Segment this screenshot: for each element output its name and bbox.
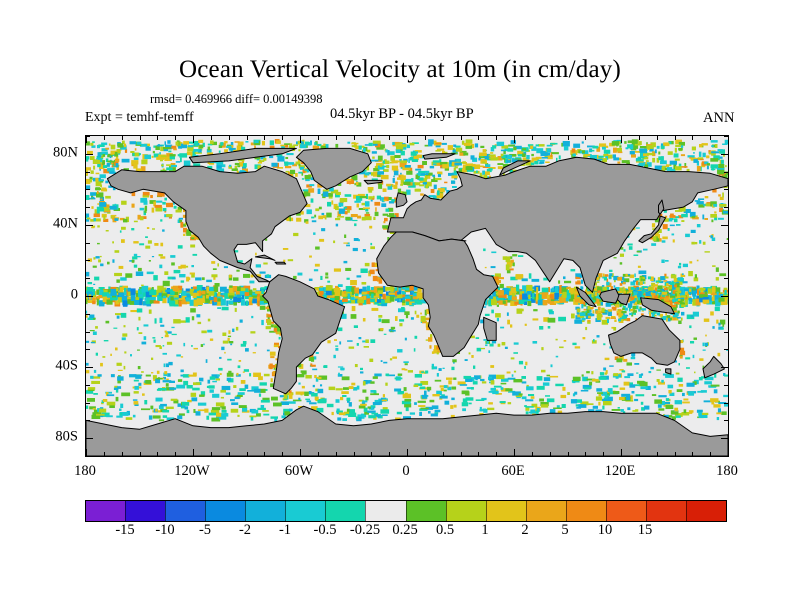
anomaly-patch <box>237 415 239 417</box>
anomaly-patch <box>96 173 100 175</box>
axis-tick <box>229 452 230 456</box>
anomaly-patch <box>215 283 220 287</box>
anomaly-patch <box>432 366 434 369</box>
anomaly-patch <box>421 371 424 373</box>
figure-canvas: Ocean Vertical Velocity at 10m (in cm/da… <box>0 0 800 600</box>
anomaly-patch <box>91 170 94 174</box>
anomaly-patch <box>608 388 613 392</box>
anomaly-patch <box>402 300 405 303</box>
anomaly-patch <box>543 300 548 305</box>
anomaly-patch <box>630 144 634 149</box>
axis-tick <box>122 452 123 456</box>
anomaly-patch <box>306 221 309 224</box>
anomaly-patch <box>222 307 229 311</box>
axis-tick <box>724 260 728 261</box>
anomaly-patch <box>349 347 355 349</box>
anomaly-patch <box>464 143 471 146</box>
anomaly-patch <box>345 211 348 214</box>
anomaly-patch <box>104 340 109 341</box>
anomaly-patch <box>370 339 375 343</box>
anomaly-patch <box>306 179 310 181</box>
anomaly-patch <box>654 295 658 298</box>
anomaly-patch <box>257 301 259 307</box>
anomaly-patch <box>519 393 523 395</box>
anomaly-patch <box>591 314 595 316</box>
anomaly-patch <box>412 159 418 162</box>
axis-tick <box>603 136 604 140</box>
anomaly-patch <box>162 298 166 303</box>
anomaly-patch <box>107 394 114 396</box>
anomaly-patch <box>313 385 315 387</box>
anomaly-patch <box>411 178 413 182</box>
anomaly-patch <box>94 214 100 218</box>
anomaly-patch <box>467 166 472 169</box>
anomaly-patch <box>141 371 144 373</box>
anomaly-patch <box>111 145 116 150</box>
anomaly-patch <box>140 208 144 211</box>
anomaly-patch <box>620 288 623 292</box>
anomaly-patch <box>336 388 343 390</box>
anomaly-patch <box>110 354 112 356</box>
anomaly-patch <box>122 159 130 163</box>
anomaly-patch <box>245 141 248 143</box>
anomaly-patch <box>193 373 197 377</box>
anomaly-patch <box>617 311 621 313</box>
anomaly-patch <box>103 215 105 220</box>
anomaly-patch <box>384 200 387 202</box>
anomaly-patch <box>651 243 656 246</box>
anomaly-patch <box>725 174 727 178</box>
anomaly-patch <box>327 340 330 343</box>
anomaly-patch <box>383 221 385 223</box>
anomaly-patch <box>356 182 359 185</box>
anomaly-patch <box>680 340 683 343</box>
anomaly-patch <box>145 236 148 238</box>
anomaly-patch <box>705 291 707 294</box>
anomaly-patch <box>617 152 622 154</box>
anomaly-patch <box>382 319 390 323</box>
anomaly-patch <box>116 397 119 401</box>
anomaly-patch <box>340 368 344 371</box>
axis-tick <box>585 136 586 140</box>
anomaly-patch <box>370 243 372 245</box>
anomaly-patch <box>129 374 136 377</box>
anomaly-patch <box>415 336 418 339</box>
anomaly-patch <box>414 402 417 405</box>
anomaly-patch <box>536 287 538 293</box>
anomaly-patch <box>392 357 397 359</box>
anomaly-patch <box>195 277 202 280</box>
anomaly-patch <box>712 265 716 267</box>
anomaly-patch <box>524 366 526 369</box>
anomaly-patch <box>710 398 718 402</box>
anomaly-patch <box>673 290 675 293</box>
colorbar-tick-label: 2 <box>521 522 528 539</box>
anomaly-patch <box>563 276 566 279</box>
axis-tick <box>425 452 426 456</box>
anomaly-patch <box>697 410 703 413</box>
anomaly-patch <box>125 273 132 278</box>
anomaly-patch <box>345 268 351 271</box>
anomaly-patch <box>428 142 432 146</box>
anomaly-patch <box>541 347 543 350</box>
anomaly-patch <box>400 184 403 186</box>
anomaly-patch <box>506 264 510 270</box>
anomaly-patch <box>648 276 651 279</box>
anomaly-patch <box>255 253 257 256</box>
anomaly-patch <box>451 367 454 370</box>
anomaly-patch <box>359 405 366 408</box>
anomaly-patch <box>243 163 247 167</box>
anomaly-patch <box>88 387 95 390</box>
anomaly-patch <box>99 409 106 413</box>
anomaly-patch <box>371 413 378 415</box>
anomaly-patch <box>606 282 609 286</box>
anomaly-patch <box>174 298 179 300</box>
anomaly-patch <box>723 211 728 214</box>
anomaly-patch <box>622 370 625 372</box>
anomaly-patch <box>128 288 131 292</box>
anomaly-patch <box>139 332 143 334</box>
axis-tick <box>86 403 90 404</box>
anomaly-patch <box>636 287 639 290</box>
anomaly-patch <box>692 216 695 218</box>
axis-tick <box>461 452 462 456</box>
anomaly-patch <box>668 228 670 231</box>
axis-tick <box>710 452 711 456</box>
anomaly-patch <box>685 357 690 359</box>
anomaly-patch <box>145 246 150 249</box>
anomaly-patch <box>239 405 247 408</box>
anomaly-patch <box>721 160 724 164</box>
anomaly-patch <box>144 336 147 340</box>
axis-tick <box>140 452 141 456</box>
anomaly-patch <box>392 142 395 145</box>
anomaly-patch <box>360 371 363 373</box>
anomaly-patch <box>209 291 215 296</box>
anomaly-patch <box>137 327 139 330</box>
anomaly-patch <box>371 406 373 410</box>
anomaly-patch <box>143 192 150 196</box>
anomaly-patch <box>352 145 357 147</box>
anomaly-patch <box>434 185 437 190</box>
anomaly-patch <box>276 140 281 144</box>
anomaly-patch <box>452 186 457 188</box>
anomaly-patch <box>674 302 679 304</box>
anomaly-patch <box>88 282 93 284</box>
anomaly-patch <box>505 388 512 391</box>
anomaly-patch <box>270 356 274 358</box>
anomaly-patch <box>367 411 375 413</box>
axis-tick <box>371 136 372 140</box>
anomaly-patch <box>94 370 96 373</box>
anomaly-patch <box>320 384 322 386</box>
anomaly-patch <box>267 320 271 326</box>
anomaly-patch <box>103 399 108 402</box>
anomaly-patch <box>163 415 167 418</box>
anomaly-patch <box>95 326 98 329</box>
world-map-heatmap <box>86 136 728 456</box>
anomaly-patch <box>658 408 664 410</box>
anomaly-patch <box>675 293 677 296</box>
anomaly-patch <box>267 350 270 352</box>
anomaly-patch <box>279 337 281 340</box>
anomaly-patch <box>141 408 150 410</box>
colorbar-tick-label: -5 <box>199 522 211 539</box>
anomaly-patch <box>311 393 318 397</box>
anomaly-patch <box>131 289 136 296</box>
anomaly-patch <box>187 410 190 413</box>
anomaly-patch <box>134 380 139 382</box>
anomaly-patch <box>628 140 634 143</box>
anomaly-patch <box>448 145 453 150</box>
anomaly-patch <box>383 394 385 397</box>
anomaly-patch <box>522 148 526 150</box>
anomaly-patch <box>357 386 360 390</box>
anomaly-patch <box>598 297 600 299</box>
anomaly-patch <box>309 184 314 186</box>
anomaly-patch <box>392 166 398 171</box>
anomaly-patch <box>298 149 300 151</box>
x-axis-label: 120W <box>174 463 209 480</box>
anomaly-patch <box>281 401 289 405</box>
anomaly-patch <box>385 149 387 152</box>
anomaly-patch <box>336 192 341 195</box>
anomaly-patch <box>193 409 195 413</box>
anomaly-patch <box>707 163 710 166</box>
anomaly-patch <box>138 366 141 369</box>
anomaly-patch <box>134 265 137 268</box>
anomaly-patch <box>487 408 494 410</box>
anomaly-patch <box>317 144 321 146</box>
anomaly-patch <box>636 373 638 374</box>
statistics-annotation: rmsd= 0.469966 diff= 0.00149398 <box>150 92 323 107</box>
anomaly-patch <box>331 200 333 204</box>
anomaly-patch <box>107 402 116 406</box>
anomaly-patch <box>390 156 395 161</box>
anomaly-patch <box>139 243 144 245</box>
anomaly-patch <box>715 307 720 311</box>
anomaly-patch <box>592 146 598 149</box>
anomaly-patch <box>100 174 106 178</box>
anomaly-patch <box>130 141 137 144</box>
anomaly-patch <box>274 343 279 345</box>
anomaly-patch <box>322 213 325 215</box>
anomaly-patch <box>186 266 188 268</box>
anomaly-patch <box>100 264 103 267</box>
anomaly-patch <box>488 350 490 353</box>
anomaly-patch <box>693 312 699 317</box>
anomaly-patch <box>693 355 695 358</box>
anomaly-patch <box>711 140 718 143</box>
anomaly-patch <box>367 286 370 291</box>
anomaly-patch <box>725 165 727 167</box>
anomaly-patch <box>490 365 494 368</box>
anomaly-patch <box>636 394 645 396</box>
anomaly-patch <box>397 349 402 352</box>
anomaly-patch <box>368 415 376 418</box>
anomaly-patch <box>692 299 696 306</box>
anomaly-patch <box>539 399 544 402</box>
anomaly-patch <box>107 161 114 163</box>
anomaly-patch <box>587 309 590 313</box>
anomaly-patch <box>708 288 712 293</box>
axis-tick <box>550 136 551 140</box>
anomaly-patch <box>666 398 669 401</box>
x-axis-label: 60E <box>501 463 524 480</box>
anomaly-patch <box>117 316 120 319</box>
anomaly-patch <box>596 396 602 400</box>
anomaly-patch <box>454 163 462 166</box>
anomaly-patch <box>417 288 421 292</box>
anomaly-patch <box>236 327 238 331</box>
anomaly-patch <box>180 158 182 163</box>
anomaly-patch <box>334 339 337 341</box>
anomaly-patch <box>531 154 534 156</box>
anomaly-patch <box>705 335 707 337</box>
anomaly-patch <box>116 163 119 167</box>
anomaly-patch <box>411 152 417 156</box>
colorbar-tick-label: 1 <box>481 522 488 539</box>
anomaly-patch <box>598 310 601 313</box>
anomaly-patch <box>378 184 382 189</box>
anomaly-patch <box>191 265 194 267</box>
anomaly-patch <box>676 415 681 418</box>
anomaly-patch <box>100 199 102 201</box>
anomaly-patch <box>136 272 143 277</box>
anomaly-patch <box>224 266 228 268</box>
anomaly-patch <box>298 398 300 400</box>
anomaly-patch <box>583 337 586 339</box>
anomaly-patch <box>181 280 185 282</box>
axis-tick <box>443 136 444 140</box>
anomaly-patch <box>339 412 346 415</box>
axis-tick <box>532 452 533 456</box>
anomaly-patch <box>170 154 176 156</box>
anomaly-patch <box>705 196 709 198</box>
anomaly-patch <box>336 224 338 227</box>
anomaly-patch <box>714 389 718 393</box>
anomaly-patch <box>681 295 686 297</box>
anomaly-patch <box>188 145 194 147</box>
anomaly-patch <box>120 277 127 280</box>
anomaly-patch <box>488 168 492 170</box>
anomaly-patch <box>93 393 98 395</box>
anomaly-patch <box>587 306 590 310</box>
anomaly-patch <box>134 301 140 305</box>
anomaly-patch <box>195 300 199 303</box>
anomaly-patch <box>704 218 708 220</box>
anomaly-patch <box>171 262 175 265</box>
anomaly-patch <box>575 281 580 284</box>
anomaly-patch <box>488 402 493 404</box>
anomaly-patch <box>386 165 389 168</box>
axis-tick <box>724 385 728 386</box>
anomaly-patch <box>643 279 646 281</box>
anomaly-patch <box>698 412 702 416</box>
anomaly-patch <box>116 288 119 291</box>
anomaly-patch <box>681 145 683 148</box>
anomaly-patch <box>444 385 448 388</box>
anomaly-patch <box>229 165 231 167</box>
anomaly-patch <box>652 394 656 396</box>
colorbar-segment <box>646 501 686 521</box>
anomaly-patch <box>419 171 426 173</box>
anomaly-patch <box>251 417 254 421</box>
anomaly-patch <box>264 374 270 377</box>
anomaly-patch <box>405 299 410 302</box>
axis-tick <box>86 367 93 368</box>
anomaly-patch <box>171 165 177 167</box>
anomaly-patch <box>187 385 193 389</box>
anomaly-patch <box>223 293 225 296</box>
anomaly-patch <box>186 232 191 236</box>
anomaly-patch <box>627 407 630 410</box>
anomaly-patch <box>271 378 273 382</box>
axis-tick <box>724 349 728 350</box>
anomaly-patch <box>121 227 126 230</box>
anomaly-patch <box>636 227 640 228</box>
anomaly-patch <box>305 142 309 145</box>
anomaly-patch <box>122 337 126 340</box>
anomaly-patch <box>147 227 149 229</box>
anomaly-patch <box>154 243 158 246</box>
anomaly-patch <box>717 292 719 296</box>
anomaly-patch <box>309 402 317 404</box>
anomaly-patch <box>227 359 231 361</box>
anomaly-patch <box>382 414 388 416</box>
anomaly-patch <box>658 156 664 160</box>
anomaly-patch <box>245 348 249 352</box>
colorbar-tick-label: -15 <box>115 522 134 539</box>
axis-tick <box>175 136 176 140</box>
anomaly-patch <box>620 254 624 257</box>
anomaly-patch <box>269 331 274 333</box>
anomaly-patch <box>159 254 163 256</box>
anomaly-patch <box>210 389 214 392</box>
anomaly-patch <box>86 299 88 304</box>
axis-tick <box>514 449 515 456</box>
anomaly-patch <box>354 288 359 295</box>
anomaly-patch <box>163 147 171 149</box>
anomaly-patch <box>603 343 605 345</box>
axis-tick <box>443 452 444 456</box>
axis-tick <box>657 452 658 456</box>
anomaly-patch <box>271 397 278 401</box>
colorbar-tick-label: -10 <box>155 522 174 539</box>
anomaly-patch <box>122 333 127 336</box>
anomaly-patch <box>663 286 667 288</box>
anomaly-patch <box>430 400 435 403</box>
anomaly-patch <box>347 142 350 144</box>
anomaly-patch <box>425 371 428 374</box>
anomaly-patch <box>655 287 657 291</box>
colorbar <box>85 500 727 522</box>
anomaly-patch <box>119 409 122 412</box>
anomaly-patch <box>689 261 692 263</box>
anomaly-patch <box>231 409 239 413</box>
anomaly-patch <box>632 410 636 412</box>
anomaly-patch <box>406 190 411 195</box>
y-axis-label: 40N <box>38 215 78 232</box>
anomaly-patch <box>380 409 389 413</box>
anomaly-patch <box>96 256 100 258</box>
anomaly-patch <box>220 390 226 393</box>
anomaly-patch <box>183 374 189 378</box>
axis-tick <box>603 452 604 456</box>
anomaly-patch <box>529 273 532 278</box>
anomaly-patch <box>638 309 641 312</box>
